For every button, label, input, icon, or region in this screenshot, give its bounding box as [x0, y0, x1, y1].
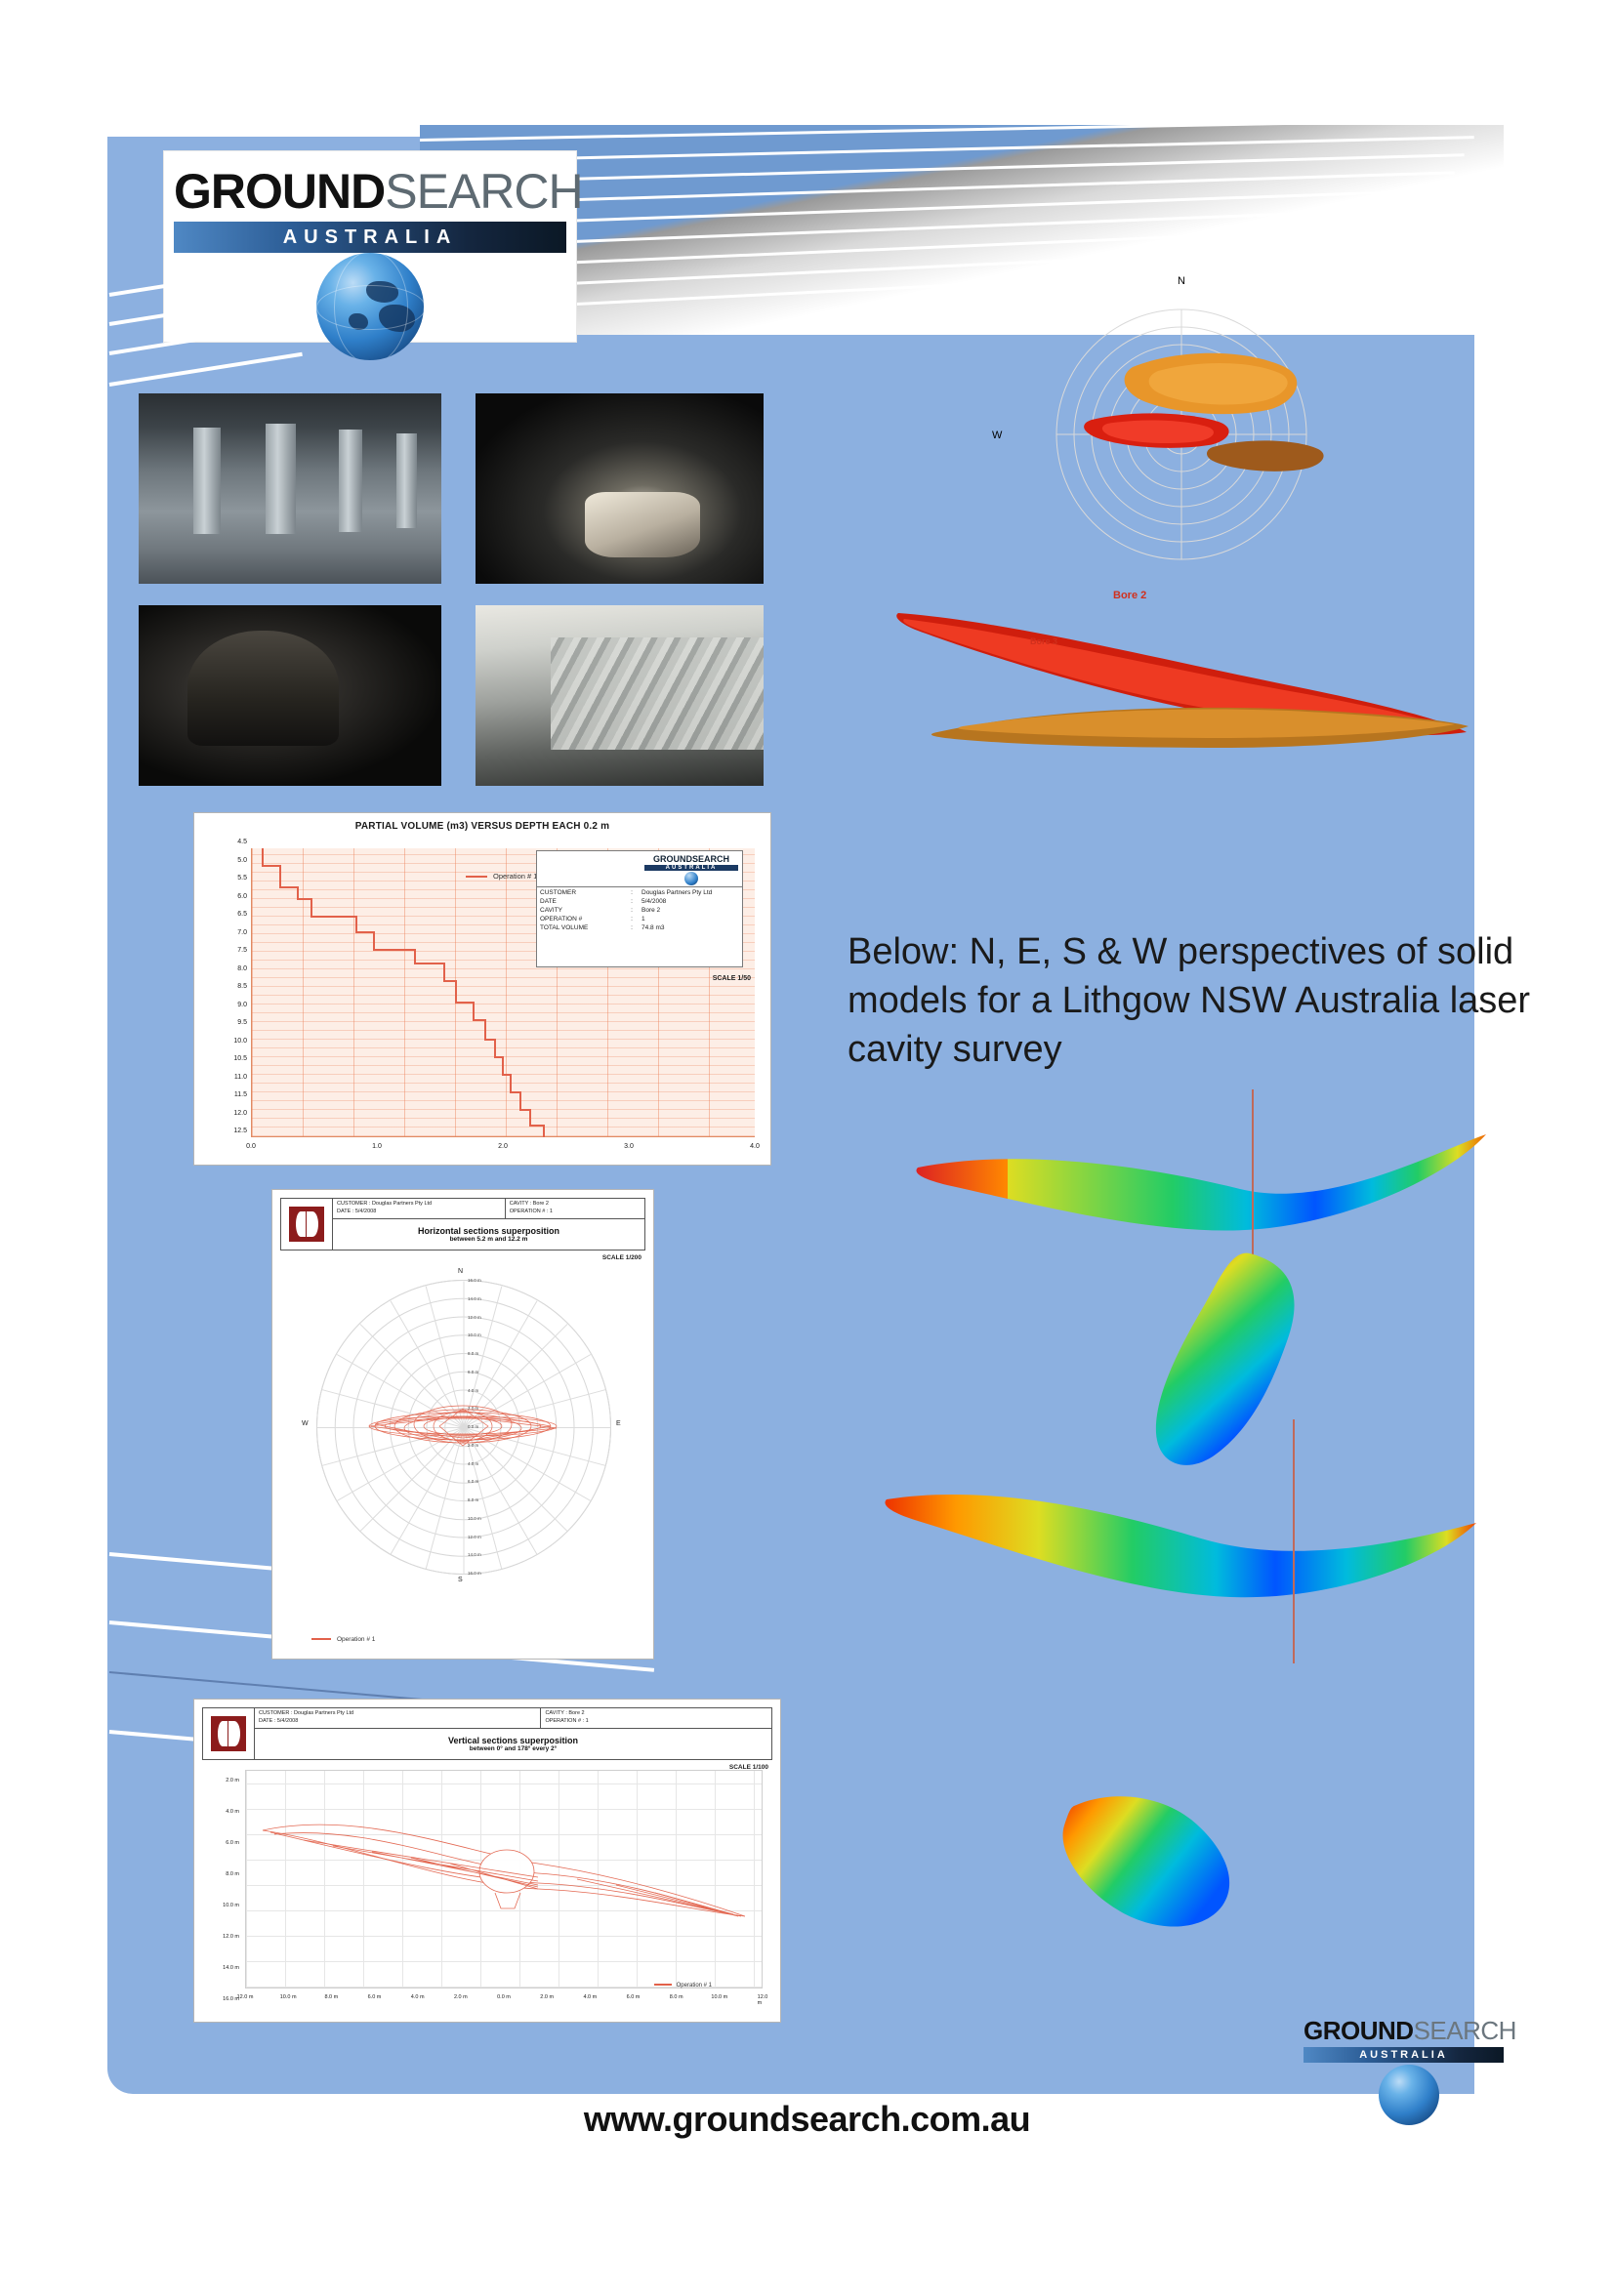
- meta-line: CAVITY : Bore 2: [510, 1201, 641, 1209]
- x-axis-labels: 0.01.02.03.04.0: [251, 1143, 755, 1155]
- vertical-sections-chart: CUSTOMER : Douglas Partners Pty LtdDATE …: [193, 1699, 781, 2023]
- x-axis-labels: 12.0 m10.0 m8.0 m6.0 m4.0 m2.0 m0.0 m2.0…: [245, 1994, 763, 2006]
- meta-line: CUSTOMER : Douglas Partners Pty Ltd: [337, 1201, 501, 1209]
- meta-line: DATE : 5/4/2008: [259, 1718, 536, 1726]
- legend-row: Operation # 1: [311, 1636, 375, 1643]
- chart-info-panel: GROUNDSEARCH AUSTRALIA CUSTOMER:Douglas …: [536, 850, 743, 967]
- globe-icon: [1379, 2065, 1439, 2125]
- x-tick: 8.0 m: [670, 1994, 683, 2000]
- douglas-partners-logo: [203, 1708, 255, 1759]
- x-tick: 10.0 m: [280, 1994, 297, 2000]
- info-row: CUSTOMER:Douglas Partners Pty Ltd: [537, 888, 715, 897]
- info-sep: :: [625, 897, 639, 906]
- footer-logo-wordmark: GROUNDSEARCH: [1304, 2016, 1513, 2046]
- meta-line: CUSTOMER : Douglas Partners Pty Ltd: [259, 1710, 536, 1718]
- y-tick: 9.0: [237, 1002, 247, 1008]
- info-row: TOTAL VOLUME:74.8 m3: [537, 923, 715, 932]
- y-tick: 4.0 m: [226, 1809, 239, 1815]
- x-tick: 2.0: [498, 1143, 508, 1150]
- legend-swatch: [311, 1638, 331, 1640]
- footer-logo: GROUNDSEARCH AUSTRALIA: [1304, 2016, 1513, 2121]
- sheet-meta: CUSTOMER : Douglas Partners Pty LtdDATE …: [333, 1199, 644, 1250]
- x-tick: 6.0 m: [368, 1994, 382, 2000]
- x-tick: 10.0 m: [711, 1994, 727, 2000]
- sheet-title: Vertical sections superposition: [448, 1736, 578, 1745]
- south-perspective: [879, 1455, 1484, 1650]
- info-value: 1: [639, 915, 715, 923]
- info-key: CUSTOMER: [537, 888, 625, 897]
- y-tick: 14.0 m: [223, 1965, 239, 1971]
- info-sep: :: [625, 915, 639, 923]
- y-tick: 12.0: [233, 1110, 247, 1117]
- y-tick: 11.5: [234, 1091, 247, 1098]
- meta-col-left: CUSTOMER : Douglas Partners Pty LtdDATE …: [333, 1199, 505, 1218]
- west-perspective: [1045, 1777, 1279, 1962]
- info-value: Bore 2: [639, 906, 715, 915]
- logo-word-ground: GROUND: [174, 164, 385, 219]
- x-tick: 1.0: [372, 1143, 382, 1150]
- info-row: CAVITY:Bore 2: [537, 906, 715, 915]
- x-tick: 2.0 m: [454, 1994, 468, 2000]
- logo-country-bar: AUSTRALIA: [174, 222, 566, 253]
- x-tick: 3.0: [624, 1143, 634, 1150]
- y-tick: 9.5: [237, 1019, 247, 1026]
- info-table: CUSTOMER:Douglas Partners Pty LtdDATE:5/…: [537, 888, 715, 932]
- legend-row: Operation # 1: [654, 1983, 712, 1988]
- douglas-partners-logo: [281, 1199, 333, 1250]
- meta-col-left: CUSTOMER : Douglas Partners Pty LtdDATE …: [255, 1708, 540, 1728]
- vertical-sections-series: [245, 1770, 763, 1988]
- info-key: OPERATION #: [537, 915, 625, 923]
- legend-label: Operation # 1: [493, 872, 537, 881]
- y-tick: 10.5: [233, 1055, 247, 1062]
- y-tick: 7.5: [237, 947, 247, 954]
- legend-label: Operation # 1: [337, 1636, 375, 1643]
- y-tick: 8.0 m: [226, 1871, 239, 1877]
- compass-s: S: [458, 1577, 463, 1583]
- y-tick: 12.0 m: [223, 1934, 239, 1940]
- footer-logo-ground: GROUND: [1304, 2016, 1414, 2045]
- chart-scale-label: SCALE 1/50: [713, 975, 751, 982]
- info-value: 5/4/2008: [639, 897, 715, 906]
- logo-wordmark: GROUNDSEARCH: [174, 167, 566, 216]
- mine-pillars-photo: [139, 393, 441, 584]
- bore-solid-model: Bore 2 Bore 3: [869, 595, 1474, 771]
- y-tick: 10.0 m: [223, 1903, 239, 1908]
- sheet-scale: SCALE 1/200: [602, 1254, 641, 1261]
- meta-col-right: CAVITY : Bore 2OPERATION # : 1: [505, 1199, 644, 1218]
- legend-swatch: [654, 1984, 672, 1986]
- chart-legend: Operation # 1: [466, 872, 537, 881]
- y-tick: 5.5: [237, 875, 247, 881]
- y-axis-labels: 4.55.05.56.06.57.07.58.08.59.09.510.010.…: [206, 842, 249, 1141]
- y-tick: 6.0 m: [226, 1840, 239, 1846]
- compass-n: N: [458, 1268, 463, 1275]
- info-key: DATE: [537, 897, 625, 906]
- y-tick: 6.5: [237, 911, 247, 918]
- chart-title: PARTIAL VOLUME (m3) VERSUS DEPTH EACH 0.…: [194, 821, 770, 832]
- horizontal-sections-series: [316, 1280, 609, 1573]
- logo-country-label: AUSTRALIA: [174, 222, 566, 253]
- bore-3-label: Bore 3: [1030, 636, 1057, 646]
- y-tick: 2.0 m: [226, 1778, 239, 1783]
- y-tick: 8.0: [237, 965, 247, 972]
- y-tick: 11.0: [234, 1074, 247, 1081]
- caption-text: Below: N, E, S & W perspectives of solid…: [848, 927, 1560, 1074]
- info-value: Douglas Partners Pty Ltd: [639, 888, 715, 897]
- bore-solid-svg: [869, 595, 1474, 771]
- meta-line: OPERATION # : 1: [510, 1209, 641, 1216]
- y-tick: 7.0: [237, 929, 247, 936]
- x-tick: 4.0 m: [583, 1994, 597, 2000]
- sheet-subtitle: between 5.2 m and 12.2 m: [450, 1236, 528, 1243]
- sheet-subtitle: between 0° and 178° every 2°: [470, 1745, 557, 1752]
- groundsearch-logo: GROUNDSEARCH AUSTRALIA: [164, 151, 576, 342]
- x-tick: 4.0 m: [411, 1994, 425, 2000]
- x-tick: 12.0 m: [758, 1994, 768, 2006]
- info-row: OPERATION #:1: [537, 915, 715, 923]
- y-tick: 6.0: [237, 893, 247, 900]
- east-perspective: [1103, 1240, 1357, 1484]
- info-logo-strip: GROUNDSEARCH AUSTRALIA: [537, 851, 742, 887]
- mine-face-photo: [476, 605, 764, 786]
- globe-icon: [316, 253, 424, 360]
- sheet-header: CUSTOMER : Douglas Partners Pty LtdDATE …: [280, 1198, 645, 1250]
- horizontal-sections-chart: CUSTOMER : Douglas Partners Pty LtdDATE …: [271, 1189, 654, 1660]
- footer-logo-country: AUSTRALIA: [1304, 2047, 1504, 2063]
- compass-e: E: [616, 1420, 621, 1427]
- legend-swatch: [466, 876, 487, 878]
- x-tick: 8.0 m: [324, 1994, 338, 2000]
- y-tick: 5.0: [237, 857, 247, 864]
- sheet-title: Horizontal sections superposition: [418, 1226, 559, 1236]
- y-axis-labels: 2.0 m4.0 m6.0 m8.0 m10.0 m12.0 m14.0 m16…: [194, 1770, 243, 1988]
- info-sep: :: [625, 888, 639, 897]
- rose-3d-svg: [986, 273, 1377, 586]
- meta-line: DATE : 5/4/2008: [337, 1209, 501, 1216]
- y-tick: 8.5: [237, 983, 247, 990]
- groundsearch-mini-logo: GROUNDSEARCH AUSTRALIA: [644, 854, 738, 881]
- y-tick: 10.0: [233, 1038, 247, 1045]
- info-key: CAVITY: [537, 906, 625, 915]
- sheet-meta-row: CUSTOMER : Douglas Partners Pty LtdDATE …: [255, 1708, 771, 1729]
- axis-marker: [1293, 1419, 1295, 1663]
- rose-3d-model: N W: [986, 273, 1377, 586]
- sheet-meta-row: CUSTOMER : Douglas Partners Pty LtdDATE …: [333, 1199, 644, 1219]
- meta-col-right: CAVITY : Bore 2OPERATION # : 1: [540, 1708, 771, 1728]
- x-tick: 0.0: [246, 1143, 256, 1150]
- info-sep: :: [625, 923, 639, 932]
- x-tick: 0.0 m: [497, 1994, 511, 2000]
- x-tick: 2.0 m: [540, 1994, 554, 2000]
- mine-rock-photo: [476, 393, 764, 584]
- footer-logo-bar: AUSTRALIA: [1304, 2047, 1504, 2063]
- sheet-title-block: Vertical sections superposition between …: [255, 1729, 771, 1759]
- logo-word-search: SEARCH: [385, 164, 582, 219]
- bore-2-label: Bore 2: [1113, 590, 1146, 601]
- y-tick: 4.5: [237, 839, 247, 845]
- sheet-header: CUSTOMER : Douglas Partners Pty LtdDATE …: [202, 1707, 772, 1760]
- dp-mark-icon: [289, 1207, 324, 1242]
- footer-logo-search: SEARCH: [1414, 2016, 1516, 2045]
- x-tick: 12.0 m: [237, 1994, 254, 2000]
- legend-label: Operation # 1: [677, 1983, 712, 1988]
- dp-mark-icon: [211, 1716, 246, 1751]
- x-tick: 6.0 m: [627, 1994, 641, 2000]
- sheet-meta: CUSTOMER : Douglas Partners Pty LtdDATE …: [255, 1708, 771, 1759]
- meta-line: OPERATION # : 1: [545, 1718, 767, 1726]
- info-sep: :: [625, 906, 639, 915]
- y-tick: 12.5: [233, 1127, 247, 1134]
- mine-arch-photo: [139, 605, 441, 786]
- info-value: 74.8 m3: [639, 923, 715, 932]
- sheet-title-block: Horizontal sections superposition betwee…: [333, 1219, 644, 1250]
- info-key: TOTAL VOLUME: [537, 923, 625, 932]
- info-row: DATE:5/4/2008: [537, 897, 715, 906]
- meta-line: CAVITY : Bore 2: [545, 1710, 767, 1718]
- x-tick: 4.0: [750, 1143, 760, 1150]
- compass-w: W: [302, 1420, 309, 1427]
- partial-volume-chart: PARTIAL VOLUME (m3) VERSUS DEPTH EACH 0.…: [193, 812, 771, 1166]
